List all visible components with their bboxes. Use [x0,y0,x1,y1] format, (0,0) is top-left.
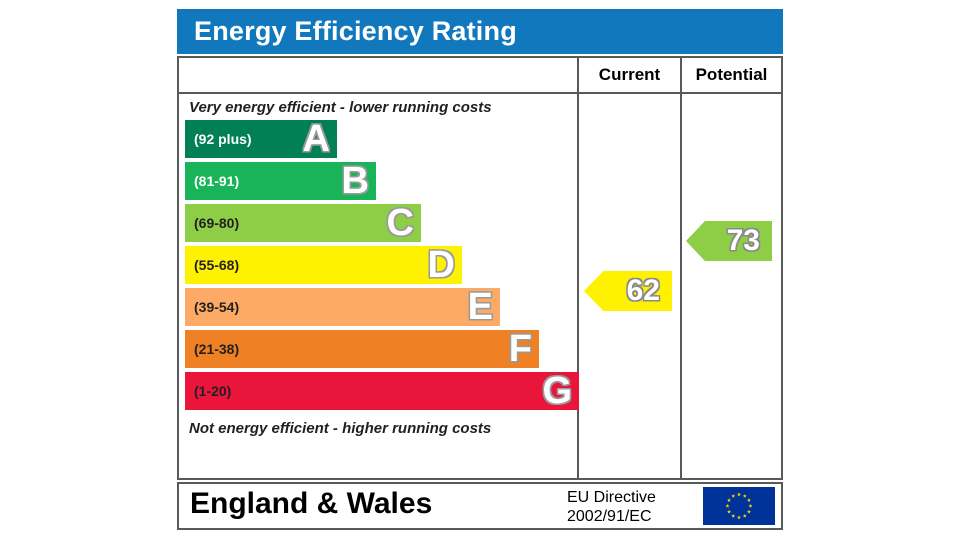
band-bar: (81-91)B [185,162,376,200]
band-range-label: (92 plus) [194,120,252,158]
eu-directive-label: EU Directive 2002/91/EC [567,488,656,526]
band-range-label: (1-20) [194,372,231,410]
current-rating-marker: 62 [584,271,672,311]
column-divider-current [577,94,579,480]
band-letter: E [468,288,493,326]
rating-band-b: (81-91)B [185,162,376,200]
band-letter: F [509,330,532,368]
column-header-potential: Potential [680,58,781,92]
band-letter: G [542,372,572,410]
table-header-row: Current Potential [179,58,781,94]
rating-table: Current Potential Very energy efficient … [177,56,783,480]
certificate-footer: England & Wales EU Directive 2002/91/EC [177,482,783,530]
eu-directive-line-1: EU Directive [567,488,656,507]
certificate-title-bar: Energy Efficiency Rating [177,9,783,54]
rating-band-c: (69-80)C [185,204,421,242]
band-bar: (21-38)F [185,330,539,368]
band-bar: (92 plus)A [185,120,337,158]
band-range-label: (69-80) [194,204,239,242]
band-range-label: (39-54) [194,288,239,326]
rating-band-a: (92 plus)A [185,120,337,158]
caption-very-efficient: Very energy efficient - lower running co… [179,95,577,121]
rating-band-g: (1-20)G [185,372,579,410]
band-range-label: (81-91) [194,162,239,200]
column-divider-potential [680,94,682,480]
rating-band-f: (21-38)F [185,330,539,368]
band-bar: (39-54)E [185,288,500,326]
rating-bands: (92 plus)A(81-91)B(69-80)C(55-68)D(39-54… [179,120,577,416]
potential-rating-marker: 73 [686,221,772,261]
band-letter: C [387,204,414,242]
band-letter: D [428,246,455,284]
eu-directive-line-2: 2002/91/EC [567,507,656,526]
potential-rating-value: 73 [727,226,760,256]
caption-not-efficient: Not energy efficient - higher running co… [179,416,577,442]
band-range-label: (21-38) [194,330,239,368]
band-bar: (55-68)D [185,246,462,284]
eu-flag-icon [703,487,775,525]
band-range-label: (55-68) [194,246,239,284]
band-letter: B [342,162,369,200]
band-bar: (69-80)C [185,204,421,242]
region-label: England & Wales [190,487,432,521]
current-rating-value: 62 [627,276,660,306]
rating-band-d: (55-68)D [185,246,462,284]
band-letter: A [303,120,330,158]
energy-efficiency-certificate: Energy Efficiency Rating Current Potenti… [177,9,783,530]
column-header-current: Current [577,58,680,92]
rating-band-e: (39-54)E [185,288,500,326]
band-bar: (1-20)G [185,372,579,410]
page-title: Energy Efficiency Rating [194,16,517,47]
